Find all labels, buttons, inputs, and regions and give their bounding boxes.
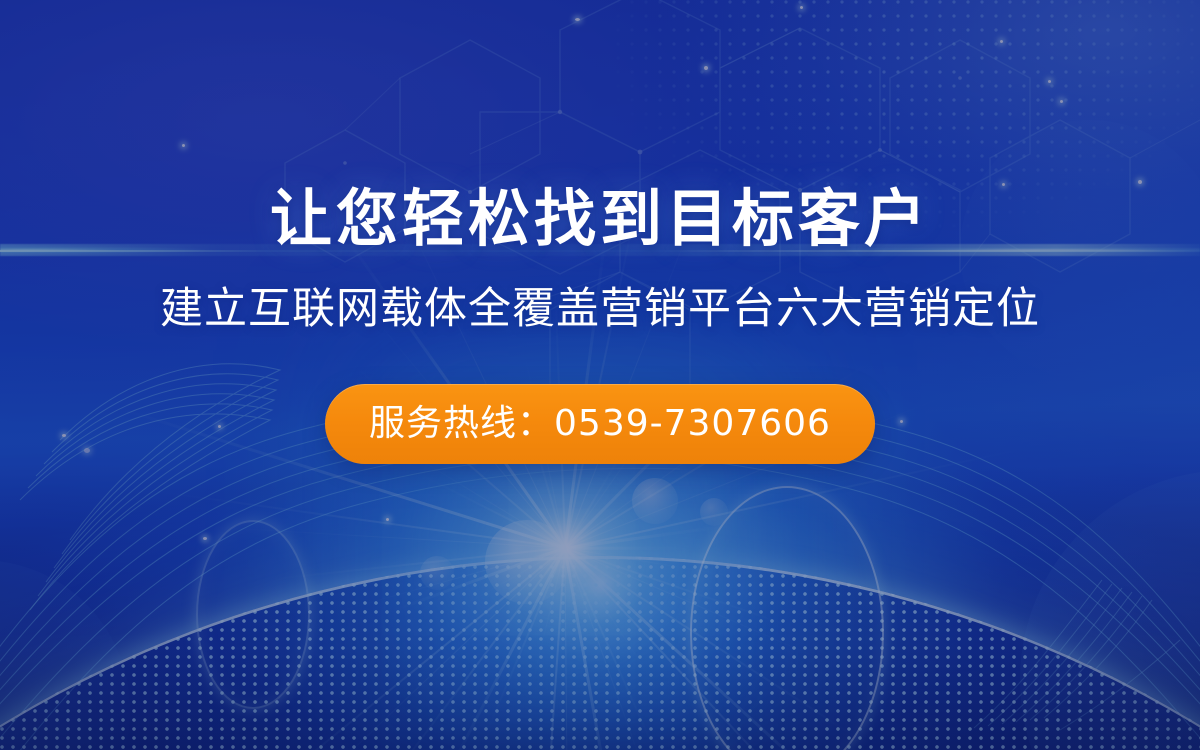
banner-content: 让您轻松找到目标客户 建立互联网载体全覆盖营销平台六大营销定位 服务热线：053… (0, 0, 1200, 750)
hotline-label: 服务热线：0539-7307606 (369, 404, 831, 444)
page-title: 让您轻松找到目标客户 (0, 183, 1200, 255)
promo-banner: 让您轻松找到目标客户 建立互联网载体全覆盖营销平台六大营销定位 服务热线：053… (0, 0, 1200, 750)
hotline-cta-button[interactable]: 服务热线：0539-7307606 (325, 384, 875, 464)
banner-subtitle: 建立互联网载体全覆盖营销平台六大营销定位 (0, 282, 1200, 336)
